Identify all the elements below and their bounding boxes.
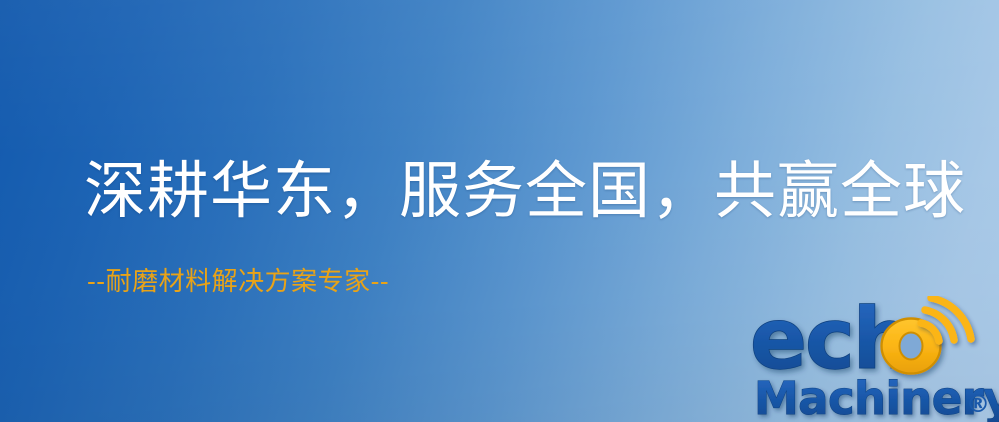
page-title: 深耕华东，服务全国，共赢全球 xyxy=(84,155,966,227)
logo-tagline-machinery: Machinery xyxy=(754,372,999,422)
svg-text:Machinery: Machinery xyxy=(754,372,999,422)
registered-trademark-icon: ® xyxy=(966,390,990,418)
echo-machinery-logo[interactable]: ech Machinery ® xyxy=(744,296,999,422)
promo-banner: 深耕华东，服务全国，共赢全球 --耐磨材料解决方案专家-- xyxy=(0,0,999,422)
banner-subtitle: --耐磨材料解决方案专家-- xyxy=(87,266,389,298)
svg-text:®: ® xyxy=(966,390,990,418)
